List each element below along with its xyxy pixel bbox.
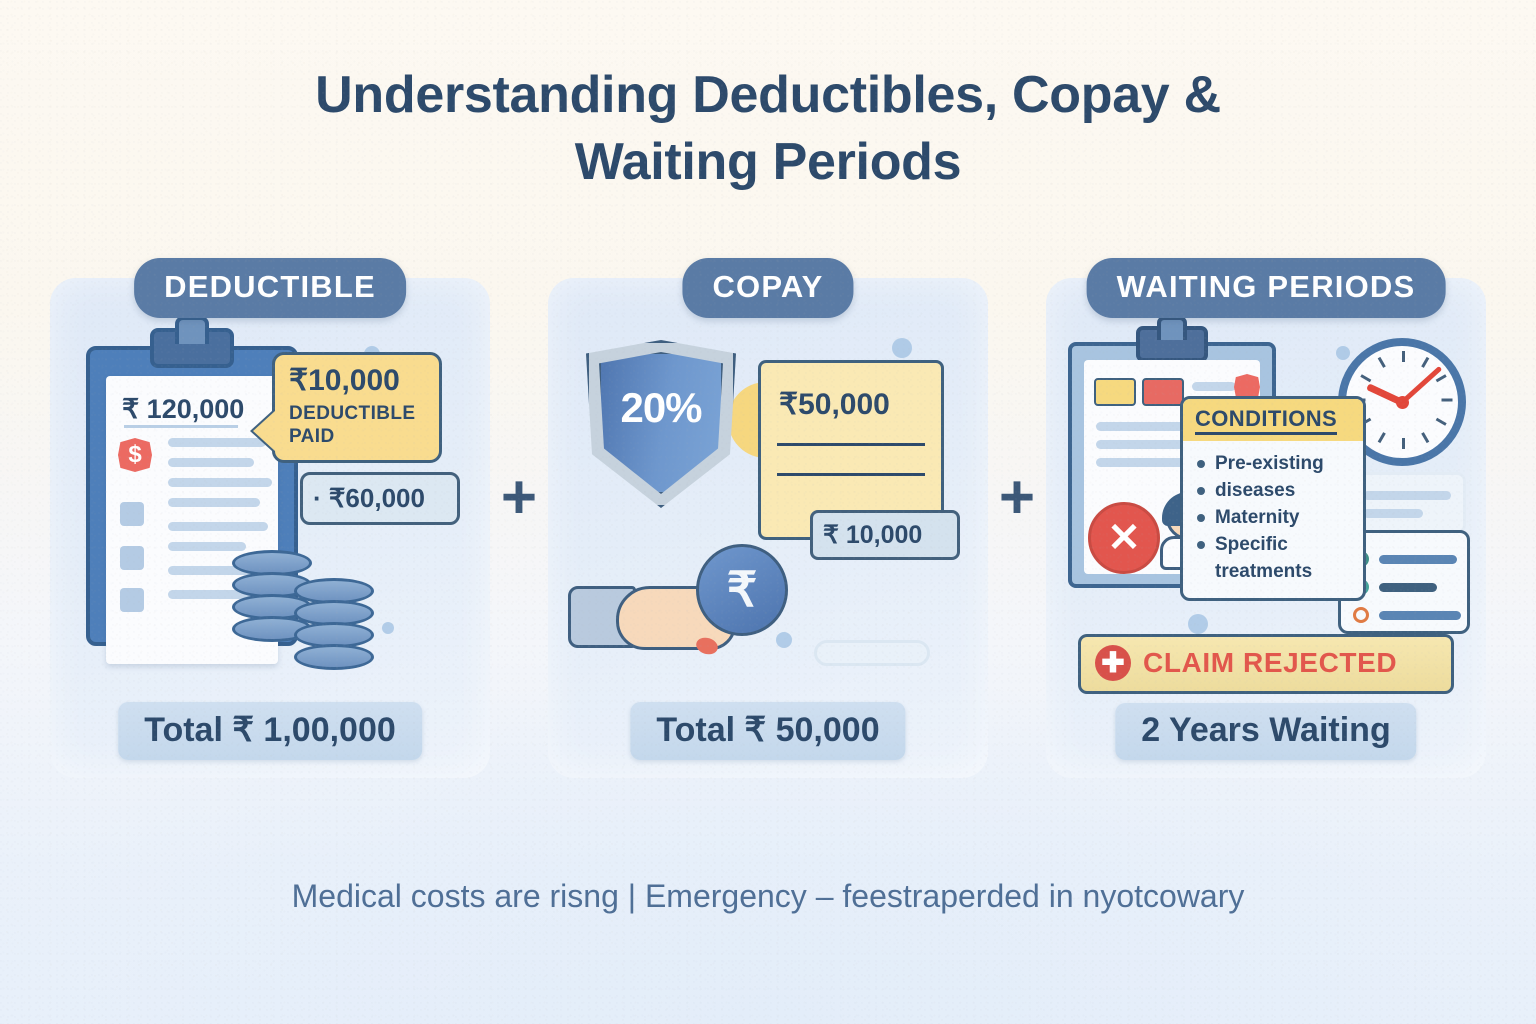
panel-badge-copay: COPAY xyxy=(682,258,853,318)
clock-tick xyxy=(1421,357,1429,368)
conditions-card: CONDITIONS Pre-existing diseases Materni… xyxy=(1180,396,1366,601)
text-line xyxy=(1363,491,1451,500)
claim-rejected-banner: ✚ CLAIM REJECTED xyxy=(1078,634,1454,694)
document-rule xyxy=(777,473,925,476)
panel-copay: COPAY 20% ₹50,000 ₹ 10,000 xyxy=(548,278,988,778)
panel-waiting-periods: WAITING PERIODS xyxy=(1046,278,1486,778)
checkbox-square xyxy=(120,502,144,526)
decorative-dot xyxy=(776,632,792,648)
deductible-callout: ₹10,000 DEDUCTIBLE PAID xyxy=(272,352,442,463)
text-line xyxy=(1192,382,1236,391)
clock-tick xyxy=(1421,432,1429,443)
decorative-dot xyxy=(1188,614,1208,634)
callout-label: DEDUCTIBLE PAID xyxy=(289,402,427,448)
text-line xyxy=(1379,555,1457,564)
page-title-line-1: Understanding Deductibles, Copay & xyxy=(315,66,1221,124)
copay-amount-box: ₹ 10,000 xyxy=(810,510,960,560)
panel-badge-deductible: DEDUCTIBLE xyxy=(134,258,406,318)
clipboard-clip-icon xyxy=(150,328,234,368)
rejection-x-icon: ✕ xyxy=(1088,502,1160,574)
footer-note: Medical costs are risng | Emergency – fe… xyxy=(0,878,1536,915)
color-chip-yellow xyxy=(1094,378,1136,406)
waiting-periods-total: 2 Years Waiting xyxy=(1115,703,1416,760)
checkbox-square xyxy=(120,588,144,612)
plus-separator-2: + xyxy=(988,278,1046,778)
coin xyxy=(294,644,374,670)
text-line xyxy=(1363,509,1423,518)
deductible-bill-amount: ₹ 120,000 xyxy=(122,394,244,425)
decorative-dot xyxy=(1336,346,1350,360)
conditions-header: CONDITIONS xyxy=(1183,399,1363,441)
decorative-placeholder-bar xyxy=(814,640,930,666)
copay-document-amount: ₹50,000 xyxy=(779,387,890,422)
copay-total: Total ₹ 50,000 xyxy=(630,702,905,760)
conditions-list-item: Pre-existing xyxy=(1197,451,1353,478)
deductible-illustration: ₹ 120,000 $ xyxy=(64,332,476,682)
copay-percent: 20% xyxy=(586,340,736,508)
medical-cross-icon: ✚ xyxy=(1095,645,1131,681)
document-rule xyxy=(777,443,925,446)
rupee-coin-icon: ₹ xyxy=(696,544,788,636)
checkbox-square xyxy=(120,546,144,570)
page-title: Understanding Deductibles, Copay & Waiti… xyxy=(0,62,1536,195)
deductible-remaining-box: · ₹60,000 xyxy=(300,472,460,525)
hand-with-coin: ₹ xyxy=(568,560,778,656)
text-line xyxy=(168,542,246,551)
conditions-list: Pre-existing diseases Maternity Specific… xyxy=(1183,441,1363,598)
text-line xyxy=(168,498,260,507)
claim-rejected-label: CLAIM REJECTED xyxy=(1143,647,1397,679)
clock-tick xyxy=(1436,374,1447,382)
color-chip-red xyxy=(1142,378,1184,406)
conditions-list-item: Specific treatments xyxy=(1197,532,1353,586)
text-line xyxy=(168,478,272,487)
clock-tick xyxy=(1360,374,1371,382)
clock-tick xyxy=(1402,351,1405,362)
decorative-dot xyxy=(892,338,912,358)
deductible-total: Total ₹ 1,00,000 xyxy=(118,702,422,760)
decorative-dot xyxy=(382,622,394,634)
panel-badge-waiting-periods: WAITING PERIODS xyxy=(1087,258,1446,318)
conditions-list-item: Maternity xyxy=(1197,505,1353,532)
text-line xyxy=(168,458,254,467)
checklist-ring-orange xyxy=(1353,607,1369,623)
text-line xyxy=(168,522,268,531)
clock-tick xyxy=(1378,357,1386,368)
clock-tick xyxy=(1378,432,1386,443)
panels-row: DEDUCTIBLE ₹ 120,000 $ xyxy=(50,278,1486,778)
callout-amount: ₹10,000 xyxy=(289,365,427,397)
plus-separator-1: + xyxy=(490,278,548,778)
panel-deductible: DEDUCTIBLE ₹ 120,000 $ xyxy=(50,278,490,778)
waiting-periods-illustration: ✕ xyxy=(1060,332,1472,682)
clock-tick xyxy=(1442,399,1453,402)
text-line xyxy=(1379,611,1461,620)
dollar-badge-icon: $ xyxy=(118,438,152,472)
conditions-list-item: diseases xyxy=(1197,478,1353,505)
copay-illustration: 20% ₹50,000 ₹ 10,000 ₹ xyxy=(562,332,974,682)
page-title-line-2: Waiting Periods xyxy=(0,129,1536,196)
clock-tick xyxy=(1402,438,1405,449)
text-line xyxy=(1379,583,1437,592)
clock-tick xyxy=(1436,418,1447,426)
copay-shield-icon: 20% xyxy=(586,340,736,508)
clipboard-clip-icon xyxy=(1136,326,1208,362)
clock-center-pin xyxy=(1396,396,1409,409)
conditions-header-text: CONDITIONS xyxy=(1195,406,1337,435)
text-line xyxy=(168,438,266,447)
